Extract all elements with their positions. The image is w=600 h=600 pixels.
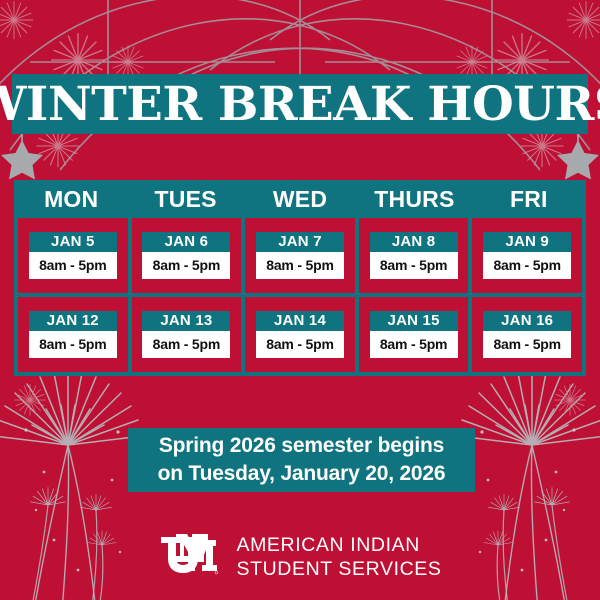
footer-line-1: AMERICAN INDIAN xyxy=(236,534,441,558)
table-row: JAN 12 8am - 5pm JAN 13 8am - 5pm JAN 14… xyxy=(18,297,582,372)
hours-label: 8am - 5pm xyxy=(256,252,344,279)
schedule-cell-jan-14: JAN 14 8am - 5pm xyxy=(245,297,355,372)
banner-line-2: on Tuesday, January 20, 2026 xyxy=(158,460,446,488)
hours-label: 8am - 5pm xyxy=(142,331,230,358)
footer-line-2: STUDENT SERVICES xyxy=(236,558,441,582)
unm-interlocking-logo-icon xyxy=(158,534,220,582)
schedule-table-header-row: MON TUES WED THURS FRI xyxy=(14,180,586,218)
schedule-cell-jan-8: JAN 8 8am - 5pm xyxy=(359,218,469,293)
date-label: JAN 6 xyxy=(142,232,230,252)
schedule-cell-jan-6: JAN 6 8am - 5pm xyxy=(132,218,242,293)
hours-label: 8am - 5pm xyxy=(29,252,117,279)
hours-label: 8am - 5pm xyxy=(29,331,117,358)
schedule-cell-jan-5: JAN 5 8am - 5pm xyxy=(18,218,128,293)
hours-label: 8am - 5pm xyxy=(483,331,571,358)
schedule-table: MON TUES WED THURS FRI JAN 5 8am - 5pm J… xyxy=(14,180,586,376)
column-header-wed: WED xyxy=(243,180,357,218)
table-row: JAN 5 8am - 5pm JAN 6 8am - 5pm JAN 7 8a… xyxy=(18,218,582,293)
date-label: JAN 9 xyxy=(483,232,571,252)
page-title: WINTER BREAK HOURS xyxy=(0,81,600,128)
date-label: JAN 13 xyxy=(142,311,230,331)
date-label: JAN 14 xyxy=(256,311,344,331)
hours-label: 8am - 5pm xyxy=(256,331,344,358)
spring-semester-banner: Spring 2026 semester begins on Tuesday, … xyxy=(128,428,475,492)
firework-under-table-left xyxy=(15,385,46,416)
date-label: JAN 16 xyxy=(483,311,571,331)
column-header-fri: FRI xyxy=(472,180,586,218)
footer: AMERICAN INDIAN STUDENT SERVICES xyxy=(0,528,600,588)
schedule-cell-jan-9: JAN 9 8am - 5pm xyxy=(472,218,582,293)
schedule-cell-jan-15: JAN 15 8am - 5pm xyxy=(359,297,469,372)
poster-title-bar: WINTER BREAK HOURS xyxy=(12,74,588,134)
schedule-cell-jan-7: JAN 7 8am - 5pm xyxy=(245,218,355,293)
footer-department-name: AMERICAN INDIAN STUDENT SERVICES xyxy=(236,534,441,582)
hours-label: 8am - 5pm xyxy=(370,331,458,358)
schedule-cell-jan-16: JAN 16 8am - 5pm xyxy=(472,297,582,372)
schedule-cell-jan-13: JAN 13 8am - 5pm xyxy=(132,297,242,372)
date-label: JAN 5 xyxy=(29,232,117,252)
banner-line-1: Spring 2026 semester begins xyxy=(159,432,444,460)
date-label: JAN 15 xyxy=(370,311,458,331)
column-header-mon: MON xyxy=(14,180,128,218)
column-header-thurs: THURS xyxy=(357,180,471,218)
date-label: JAN 7 xyxy=(256,232,344,252)
date-label: JAN 12 xyxy=(29,311,117,331)
firework-top-right xyxy=(567,1,600,38)
schedule-table-body: JAN 5 8am - 5pm JAN 6 8am - 5pm JAN 7 8a… xyxy=(14,218,586,376)
hours-label: 8am - 5pm xyxy=(142,252,230,279)
schedule-cell-jan-12: JAN 12 8am - 5pm xyxy=(18,297,128,372)
firework-under-table-right xyxy=(555,385,586,416)
date-label: JAN 8 xyxy=(370,232,458,252)
winter-break-hours-poster: WINTER BREAK HOURS MON TUES WED THURS FR… xyxy=(0,0,600,600)
firework-top-left xyxy=(0,1,33,38)
hours-label: 8am - 5pm xyxy=(370,252,458,279)
column-header-tues: TUES xyxy=(128,180,242,218)
hours-label: 8am - 5pm xyxy=(483,252,571,279)
